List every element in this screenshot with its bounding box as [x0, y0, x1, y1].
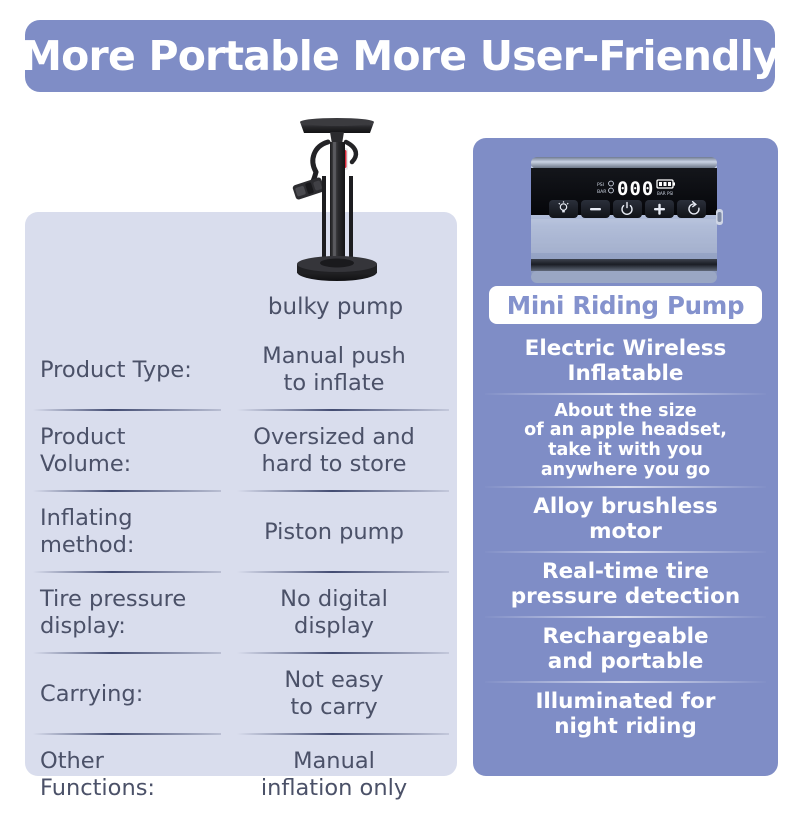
feature-text: Real-time tirepressure detection [483, 560, 768, 610]
list-item: About the sizeof an apple headset,take i… [473, 395, 778, 488]
row-value: Not easyto carry [225, 667, 443, 720]
list-item: Illuminated fornight riding [473, 683, 778, 748]
row-label: Tire pressuredisplay: [25, 586, 225, 639]
row-label: Carrying: [25, 681, 225, 708]
table-row: Tire pressuredisplay: No digitaldisplay [25, 573, 457, 654]
comparison-table: Product Type: Manual pushto inflate Prod… [25, 330, 457, 816]
svg-text:PSI: PSI [597, 182, 604, 188]
list-item: Electric WirelessInflatable [473, 330, 778, 395]
row-value: No digitaldisplay [225, 586, 443, 639]
left-product-caption: bulky pump [238, 294, 433, 320]
row-label: Inflatingmethod: [25, 505, 225, 558]
row-value: Manual pushto inflate [225, 343, 443, 396]
feature-text: Electric WirelessInflatable [483, 337, 768, 387]
table-row: OtherFunctions: Manualinflation only [25, 735, 457, 816]
feature-text: Rechargeableand portable [483, 625, 768, 675]
list-item: Real-time tirepressure detection [473, 553, 778, 618]
header-banner: More Portable More User-Friendly [25, 20, 775, 92]
table-row: ProductVolume: Oversized andhard to stor… [25, 411, 457, 492]
row-value: Manualinflation only [225, 748, 443, 801]
product-name-badge: Mini Riding Pump [489, 286, 762, 324]
refresh-button [677, 200, 706, 218]
table-row: Inflatingmethod: Piston pump [25, 492, 457, 573]
feature-panel-right: PSI BAR 000 BAR PSI [473, 138, 778, 776]
row-label: Product Type: [25, 357, 225, 384]
list-item: Rechargeableand portable [473, 618, 778, 683]
light-button [549, 200, 578, 218]
badge-label: Mini Riding Pump [507, 291, 745, 320]
feature-text: Illuminated fornight riding [483, 690, 768, 740]
feature-list: Electric WirelessInflatable About the si… [473, 330, 778, 748]
mini-electric-pump-device: PSI BAR 000 BAR PSI [525, 153, 725, 288]
list-item: Alloy brushlessmotor [473, 488, 778, 553]
table-row: Carrying: Not easyto carry [25, 654, 457, 735]
svg-text:BAR: BAR [597, 189, 607, 195]
feature-text: Alloy brushlessmotor [483, 495, 768, 545]
svg-text:000: 000 [617, 178, 654, 200]
table-row: Product Type: Manual pushto inflate [25, 330, 457, 411]
page-title: More Portable More User-Friendly [21, 32, 779, 80]
svg-text:BAR PSI: BAR PSI [657, 191, 673, 196]
row-value: Piston pump [225, 519, 443, 546]
row-value: Oversized andhard to store [225, 424, 443, 477]
row-label: ProductVolume: [25, 424, 225, 477]
feature-text: About the sizeof an apple headset,take i… [483, 402, 768, 480]
floor-pump-illustration [278, 112, 396, 287]
row-label: OtherFunctions: [25, 748, 225, 801]
